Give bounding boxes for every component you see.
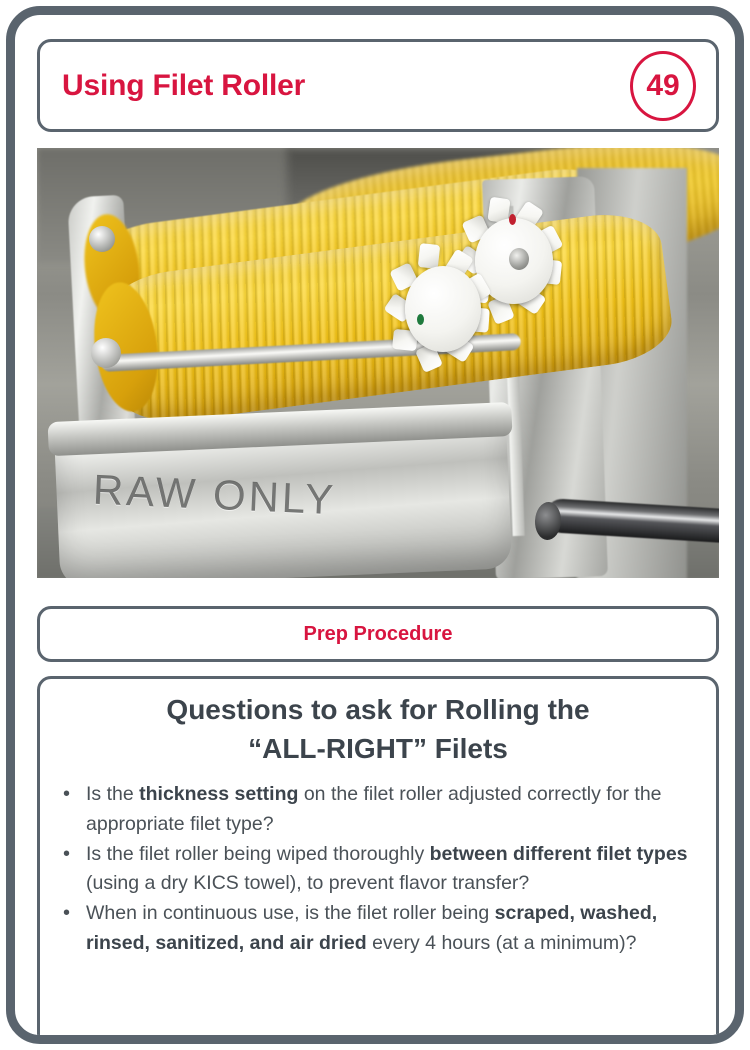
bracket-pin xyxy=(89,226,115,252)
header-panel: Using Filet Roller 49 xyxy=(37,39,719,132)
question-text: Is the filet roller being wiped thorough… xyxy=(86,843,430,865)
filet-roller-photo: RAW ONLY xyxy=(37,148,719,578)
gear-screw xyxy=(509,248,529,270)
roller-axle-knob xyxy=(91,338,121,368)
questions-heading-line2: “ALL-RIGHT” Filets xyxy=(54,730,702,769)
questions-list: Is the thickness setting on the filet ro… xyxy=(54,780,702,958)
raw-only-pan: RAW ONLY xyxy=(54,406,513,578)
question-text: every 4 hours (at a minimum)? xyxy=(367,932,637,954)
page-number-text: 49 xyxy=(646,71,679,101)
gear-tooth xyxy=(418,243,440,269)
question-text: Is the xyxy=(86,783,139,805)
questions-heading-line1: Questions to ask for Rolling the xyxy=(54,691,702,730)
question-emphasis: thickness setting xyxy=(139,783,298,805)
photo-scene: RAW ONLY xyxy=(37,148,719,578)
question-emphasis: between different filet types xyxy=(430,843,688,865)
question-item: When in continuous use, is the filet rol… xyxy=(54,899,702,958)
section-label-panel: Prep Procedure xyxy=(37,606,719,662)
page-card: Using Filet Roller 49 xyxy=(6,6,744,1044)
questions-heading: Questions to ask for Rolling the “ALL-RI… xyxy=(54,691,702,768)
gear-hub xyxy=(405,266,481,352)
question-text: (using a dry KICS towel), to prevent fla… xyxy=(86,872,529,894)
gear-marker-green-dot xyxy=(417,314,424,325)
section-label-text: Prep Procedure xyxy=(304,623,453,646)
page-title: Using Filet Roller xyxy=(62,69,305,103)
card-inner: Using Filet Roller 49 xyxy=(23,23,727,1044)
questions-panel: Questions to ask for Rolling the “ALL-RI… xyxy=(37,676,719,1044)
gear-marker-red-dot xyxy=(509,214,516,225)
question-item: Is the filet roller being wiped thorough… xyxy=(54,840,702,899)
page-number-badge: 49 xyxy=(630,51,696,121)
question-text: When in continuous use, is the filet rol… xyxy=(86,902,495,924)
question-item: Is the thickness setting on the filet ro… xyxy=(54,780,702,839)
